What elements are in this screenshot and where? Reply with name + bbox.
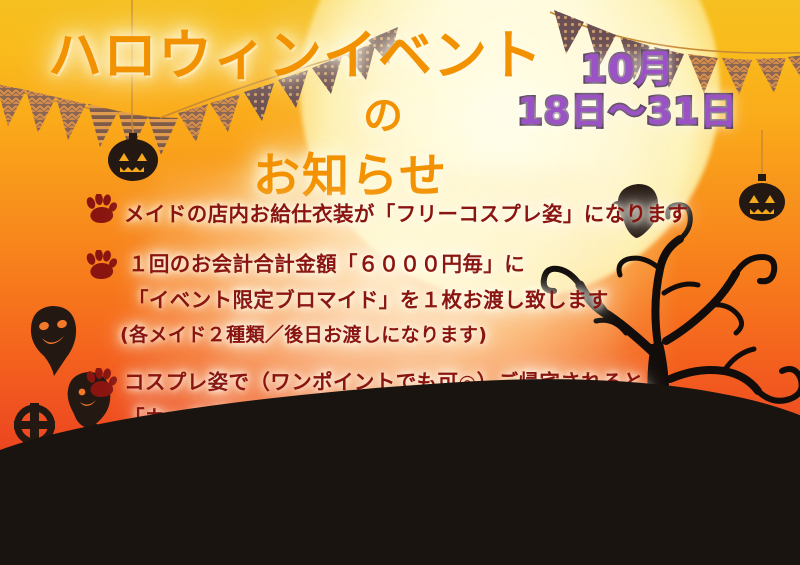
paw-print-icon: [84, 194, 118, 226]
poster-title: ハロウィンイベント の お知らせ: [48, 28, 568, 206]
title-line-2: の: [198, 83, 568, 141]
date-badge: 10月 18日〜31日: [517, 48, 738, 132]
halloween-event-poster: ハロウィンイベント の お知らせ 10月 18日〜31日 メイドの店内お給仕衣装…: [0, 0, 800, 565]
bullet-2-line-3: (各メイド２種類／後日お渡しになります): [120, 320, 487, 351]
date-range: 18日〜31日: [517, 91, 738, 132]
list-item: １回のお会計合計金額「６０００円毎」に 「イベント限定ブロマイド」を１枚お渡し致…: [0, 236, 800, 352]
bullet-2-line-2: 「イベント限定ブロマイド」を１枚お渡し致します: [128, 284, 609, 317]
list-item: メイドの店内お給仕衣装が「フリーコスプレ姿」になります: [0, 188, 800, 232]
bullet-2-line-1: １回のお会計合計金額「６０００円毎」に: [128, 248, 525, 281]
paw-print-icon: [84, 368, 118, 400]
date-month: 10月: [517, 48, 738, 91]
paw-print-icon: [84, 250, 118, 282]
bullet-1-line-1: メイドの店内お給仕衣装が「フリーコスプレ姿」になります: [124, 198, 688, 231]
ground-base: [0, 513, 800, 565]
title-line-1: ハロウィンイベント: [48, 28, 568, 85]
